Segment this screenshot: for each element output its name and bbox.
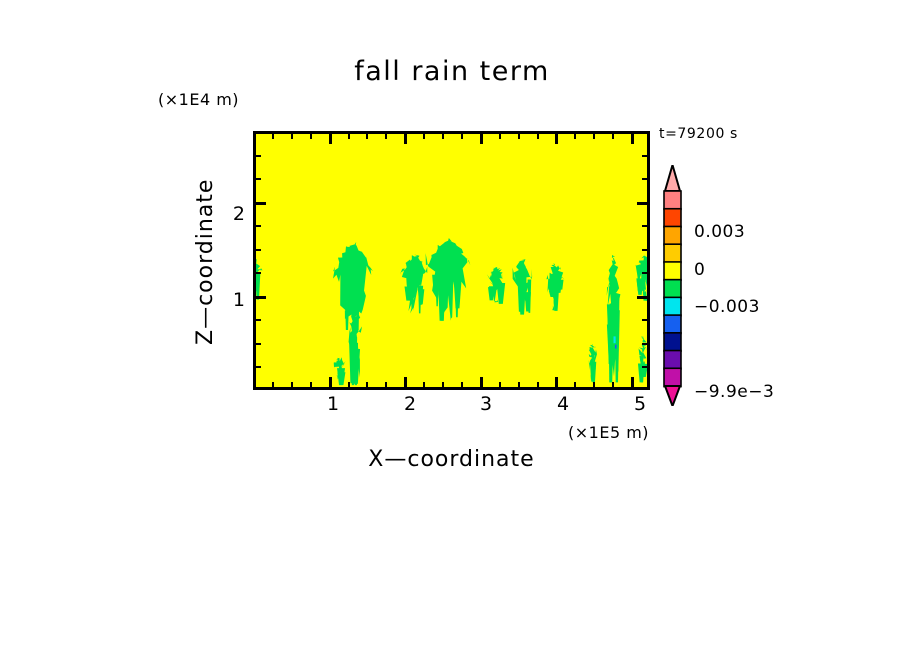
tick-mark	[348, 382, 350, 388]
tick-mark	[255, 202, 266, 205]
tick-mark	[499, 382, 501, 388]
tick-mark	[642, 225, 648, 227]
tick-mark	[593, 382, 595, 388]
page-title: fall rain term	[0, 56, 904, 87]
tick-mark	[612, 133, 614, 139]
tick-mark	[631, 133, 634, 144]
tick-mark	[423, 133, 425, 139]
tick-mark	[631, 377, 634, 388]
tick-mark	[366, 382, 368, 388]
tick-mark	[642, 366, 648, 368]
colorbar-tick-label: −0.003	[694, 297, 760, 317]
xaxis-tick-label: 4	[543, 393, 583, 415]
tick-mark	[593, 133, 595, 139]
tick-mark	[255, 272, 261, 274]
tick-mark	[537, 382, 539, 388]
xaxis-tick-label: 2	[390, 393, 430, 415]
colorbar-tick-label: 0.003	[694, 222, 745, 242]
colorbar-swatches	[663, 165, 682, 406]
tick-mark	[423, 382, 425, 388]
tick-mark	[329, 133, 332, 144]
tick-mark	[255, 366, 261, 368]
tick-mark	[642, 155, 648, 157]
tick-mark	[574, 133, 576, 139]
tick-mark	[442, 133, 444, 139]
tick-mark	[255, 343, 261, 345]
colorbar-tick-label: 0	[694, 260, 705, 280]
tick-mark	[366, 133, 368, 139]
xaxis-tick-label: 3	[466, 393, 506, 415]
colorbar	[663, 165, 682, 406]
tick-mark	[272, 133, 274, 139]
plot-area	[253, 131, 650, 390]
tick-mark	[499, 133, 501, 139]
timestamp-label: t=79200 s	[659, 126, 738, 142]
xaxis-tick-label: 5	[620, 393, 660, 415]
tick-mark	[310, 382, 312, 388]
tick-mark	[255, 296, 266, 299]
tick-mark	[385, 382, 387, 388]
tick-mark	[291, 382, 293, 388]
tick-mark	[642, 272, 648, 274]
tick-mark	[480, 377, 483, 388]
tick-mark	[555, 133, 558, 144]
colorbar-tick-label: −9.9e−3	[694, 382, 774, 402]
tick-mark	[637, 202, 648, 205]
tick-mark	[404, 377, 407, 388]
tick-mark	[255, 155, 261, 157]
tick-mark	[480, 133, 483, 144]
xaxis-tick-label: 1	[313, 393, 353, 415]
tick-mark	[329, 377, 332, 388]
tick-mark	[291, 133, 293, 139]
tick-mark	[255, 249, 261, 251]
tick-mark	[637, 296, 648, 299]
tick-mark	[555, 377, 558, 388]
tick-mark	[574, 382, 576, 388]
tick-mark	[385, 133, 387, 139]
tick-mark	[642, 178, 648, 180]
tick-mark	[255, 319, 261, 321]
xaxis-units-label: (×1E5 m)	[568, 423, 649, 442]
tick-mark	[537, 133, 539, 139]
tick-mark	[518, 133, 520, 139]
tick-mark	[404, 133, 407, 144]
zaxis-title: Z—coordinate	[195, 172, 217, 352]
tick-mark	[461, 133, 463, 139]
tick-mark	[442, 382, 444, 388]
tick-mark	[255, 178, 261, 180]
tick-mark	[642, 343, 648, 345]
field-raster	[256, 134, 647, 387]
zaxis-units-label: (×1E4 m)	[158, 90, 239, 109]
tick-mark	[612, 382, 614, 388]
tick-mark	[272, 382, 274, 388]
tick-mark	[310, 133, 312, 139]
xaxis-title: X—coordinate	[253, 447, 650, 472]
tick-mark	[461, 382, 463, 388]
figure-canvas: fall rain term (×1E4 m) t=79200 s 12345 …	[0, 0, 904, 654]
tick-mark	[642, 249, 648, 251]
tick-mark	[642, 319, 648, 321]
tick-mark	[255, 225, 261, 227]
tick-mark	[518, 382, 520, 388]
tick-mark	[348, 133, 350, 139]
